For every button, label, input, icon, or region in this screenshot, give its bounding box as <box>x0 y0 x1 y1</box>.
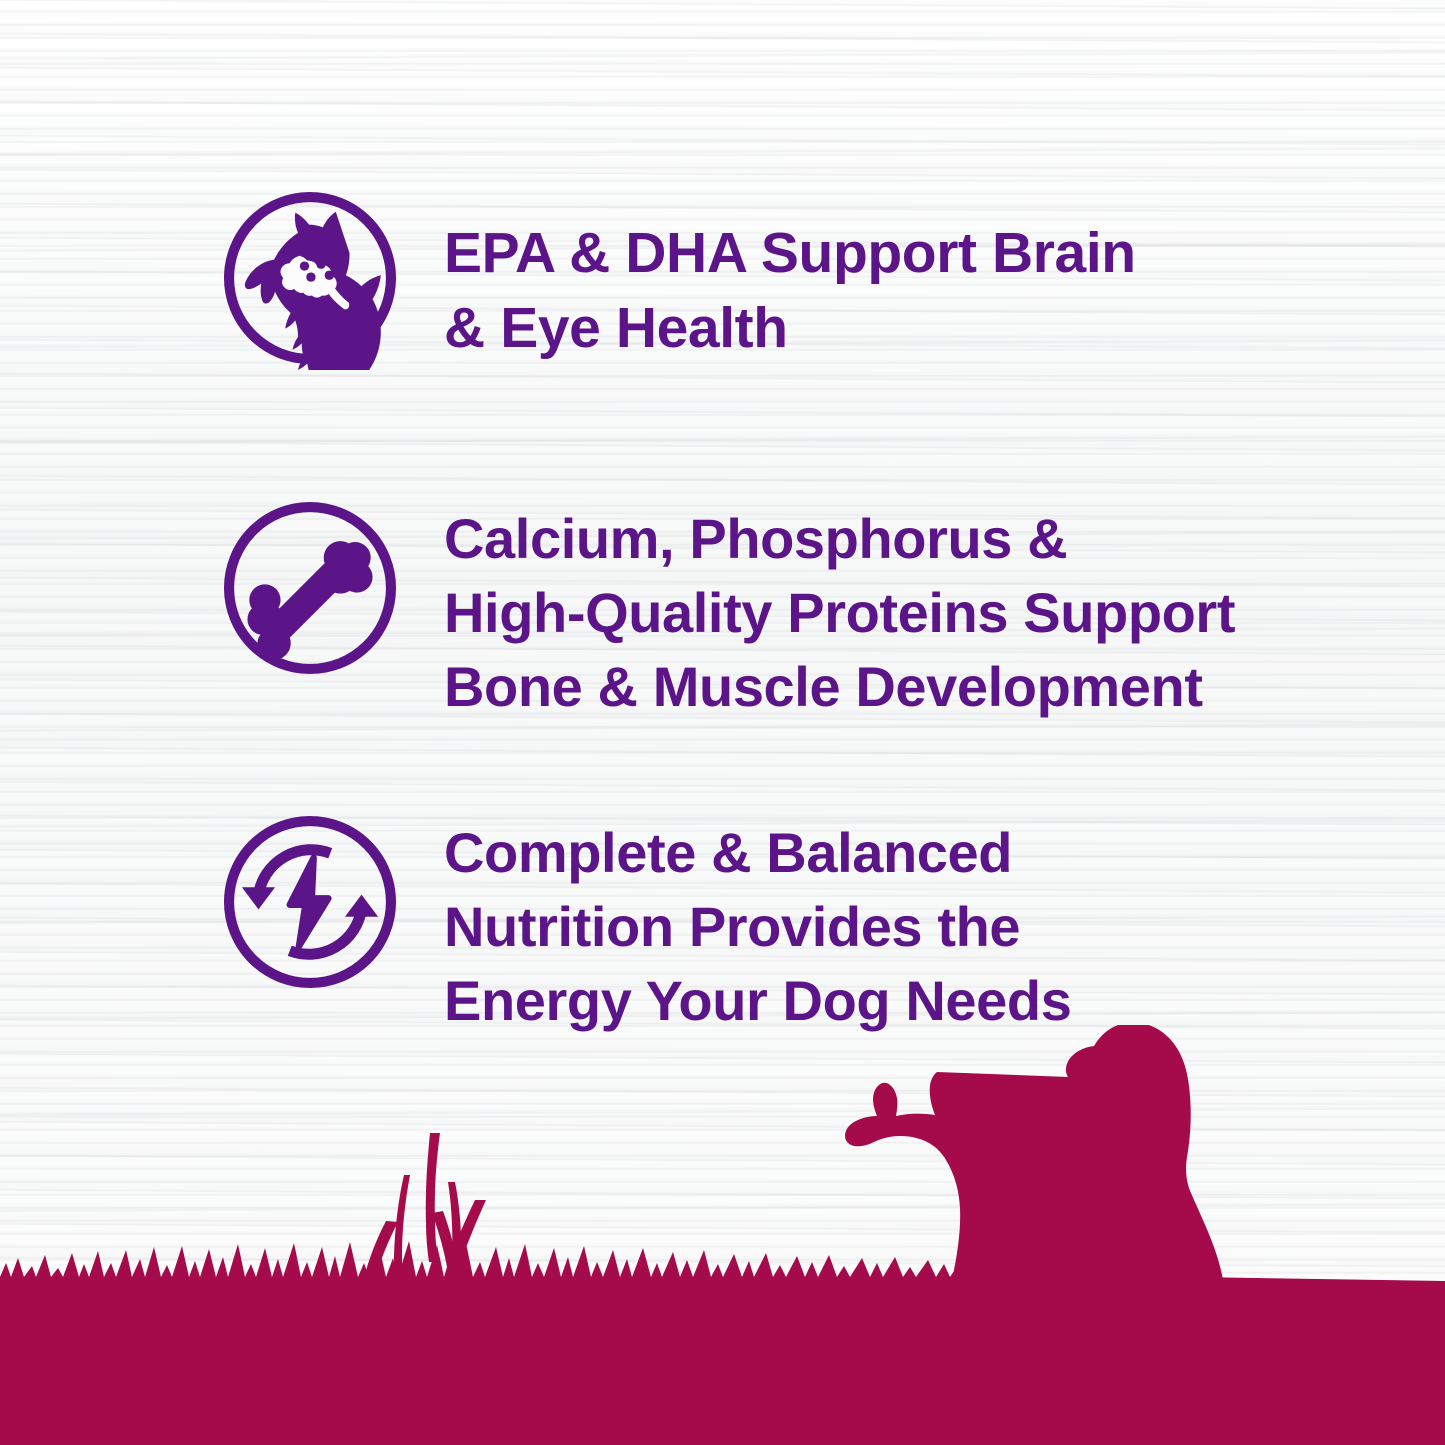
feature-text: EPA & DHA Support Brain & Eye Health <box>444 186 1136 366</box>
feature-item-epa-dha: EPA & DHA Support Brain & Eye Health <box>218 186 1136 370</box>
feature-item-complete-nutrition: Complete & Balanced Nutrition Provides t… <box>218 810 1071 1038</box>
bone-icon <box>218 496 402 680</box>
feature-text: Complete & Balanced Nutrition Provides t… <box>444 810 1071 1038</box>
feature-text: Calcium, Phosphorus & High-Quality Prote… <box>444 496 1235 724</box>
dog-head-brain-icon <box>218 186 402 370</box>
product-feature-poster: EPA & DHA Support Brain & Eye Health Cal… <box>0 0 1445 1445</box>
grass-silhouette <box>0 1241 1445 1445</box>
bottom-scene <box>0 1025 1445 1445</box>
energy-cycle-icon <box>218 810 402 994</box>
feature-item-calcium-protein: Calcium, Phosphorus & High-Quality Prote… <box>218 496 1235 724</box>
